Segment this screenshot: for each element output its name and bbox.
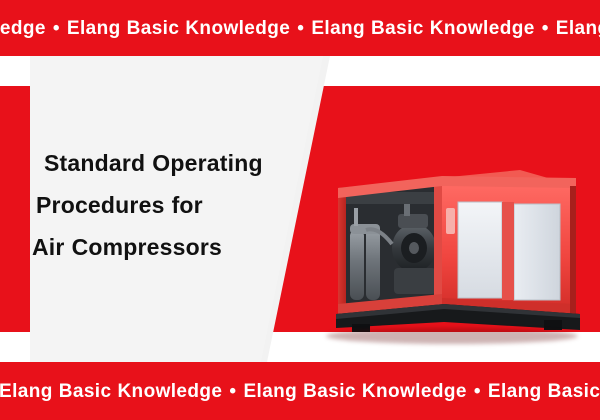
marquee-separator: •	[293, 18, 308, 39]
title-word: Standard	[44, 150, 152, 176]
marquee-word: Elang	[308, 18, 368, 39]
marquee-word: Basic	[56, 381, 115, 402]
marquee-word: Knowledge	[182, 18, 293, 39]
marquee-separator: •	[225, 381, 240, 402]
title-line-2: Proceduresfor	[30, 184, 290, 226]
page-title: StandardOperating Proceduresfor AirCompr…	[30, 142, 290, 268]
marquee-word: Knowledge	[359, 381, 470, 402]
title-line-3: AirCompressors	[30, 226, 290, 268]
title-word: Operating	[152, 150, 269, 176]
title-word: Procedures	[36, 192, 172, 218]
marquee-text-top: wledge•ElangBasicKnowledge•ElangBasicKno…	[0, 19, 600, 38]
marquee-word: Basic	[545, 381, 600, 402]
marquee-word: Basic	[368, 18, 427, 39]
machine-internals	[344, 186, 440, 310]
marquee-separator: •	[470, 381, 485, 402]
marquee-text-bottom: ElangBasicKnowledge•ElangBasicKnowledge•…	[0, 382, 600, 401]
marquee-word: Elang	[240, 381, 300, 402]
marquee-word: Knowledge	[427, 18, 538, 39]
marquee-word: Basic	[124, 18, 183, 39]
title-word: Air	[32, 234, 72, 260]
control-panel	[446, 208, 455, 234]
marquee-word: Elang	[553, 18, 600, 39]
marquee-strip-top: wledge•ElangBasicKnowledge•ElangBasicKno…	[0, 0, 600, 56]
marquee-word: Elang	[64, 18, 124, 39]
marquee-separator: •	[49, 18, 64, 39]
marquee-strip-bottom: ElangBasicKnowledge•ElangBasicKnowledge•…	[0, 362, 600, 420]
machine-body	[442, 176, 576, 318]
title-word: Compressors	[72, 234, 229, 260]
marquee-word: Basic	[300, 381, 359, 402]
marquee-word: Elang	[0, 381, 56, 402]
marquee-word: Knowledge	[114, 381, 225, 402]
banner-body: StandardOperating Proceduresfor AirCompr…	[0, 56, 600, 362]
marquee-word: wledge	[0, 18, 49, 39]
marquee-separator: •	[538, 18, 553, 39]
banner: wledge•ElangBasicKnowledge•ElangBasicKno…	[0, 0, 600, 420]
machine-shadow	[326, 328, 578, 344]
title-word: for	[172, 192, 210, 218]
marquee-word: Elang	[485, 381, 545, 402]
title-line-1: StandardOperating	[30, 142, 290, 184]
air-compressor-illustration	[308, 148, 596, 364]
